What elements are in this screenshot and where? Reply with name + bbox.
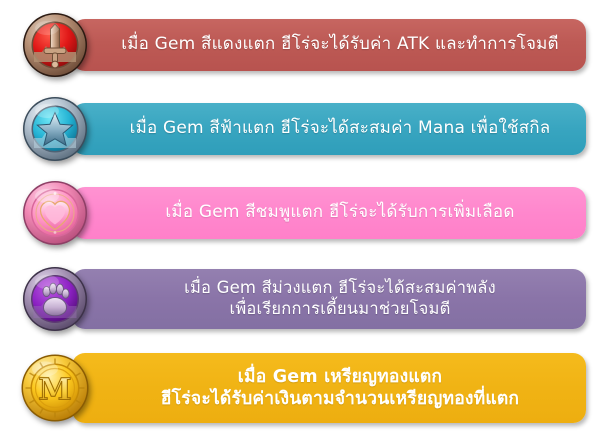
gem-effects-legend: เมื่อ Gem สีแดงแตก ฮีโร่จะได้รับค่า ATK … <box>0 0 600 447</box>
star-medallion-icon <box>22 96 88 162</box>
heart-medallion-icon <box>22 180 88 246</box>
legend-text-red: เมื่อ Gem สีแดงแตก ฮีโร่จะได้รับค่า ATK … <box>121 34 559 55</box>
legend-row-red-gem: เมื่อ Gem สีแดงแตก ฮีโร่จะได้รับค่า ATK … <box>0 6 600 84</box>
legend-bar-red: เมื่อ Gem สีแดงแตก ฮีโร่จะได้รับค่า ATK … <box>72 19 586 71</box>
legend-bar-pink: เมื่อ Gem สีชมพูแตก ฮีโร่จะได้รับการเพิ่… <box>72 187 586 239</box>
legend-row-blue-gem: เมื่อ Gem สีฟ้าแตก ฮีโร่จะได้สะสมค่า Man… <box>0 90 600 168</box>
legend-row-purple-gem: เมื่อ Gem สีม่วงแตก ฮีโร่จะได้สะสมค่าพลั… <box>0 258 600 340</box>
legend-row-gold-gem: เมื่อ Gem เหรียญทองแตก ฮีโร่จะได้รับค่าเ… <box>0 342 600 434</box>
paw-medallion-icon <box>22 266 88 332</box>
legend-bar-gold: เมื่อ Gem เหรียญทองแตก ฮีโร่จะได้รับค่าเ… <box>72 353 586 423</box>
legend-bar-purple: เมื่อ Gem สีม่วงแตก ฮีโร่จะได้สะสมค่าพลั… <box>72 269 586 329</box>
coin-letter: M <box>38 373 71 408</box>
legend-row-pink-gem: เมื่อ Gem สีชมพูแตก ฮีโร่จะได้รับการเพิ่… <box>0 174 600 252</box>
legend-text-pink: เมื่อ Gem สีชมพูแตก ฮีโร่จะได้รับการเพิ่… <box>165 202 514 223</box>
gold-coin-medallion-icon: M <box>20 353 90 423</box>
legend-text-purple: เมื่อ Gem สีม่วงแตก ฮีโร่จะได้สะสมค่าพลั… <box>184 278 496 320</box>
legend-text-blue: เมื่อ Gem สีฟ้าแตก ฮีโร่จะได้สะสมค่า Man… <box>130 118 551 139</box>
legend-text-gold: เมื่อ Gem เหรียญทองแตก ฮีโร่จะได้รับค่าเ… <box>161 366 519 410</box>
legend-bar-blue: เมื่อ Gem สีฟ้าแตก ฮีโร่จะได้สะสมค่า Man… <box>72 103 586 155</box>
sword-medallion-icon <box>22 12 88 78</box>
